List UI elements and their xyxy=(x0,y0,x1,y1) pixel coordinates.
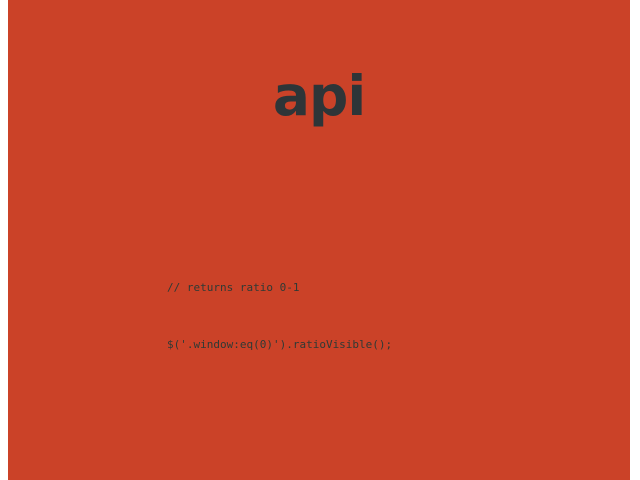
code-comment: // returns ratio 0-1 xyxy=(167,278,545,297)
slide-root: api // returns ratio 0-1 $('.window:eq(0… xyxy=(0,0,640,480)
slide-canvas: api // returns ratio 0-1 $('.window:eq(0… xyxy=(8,0,630,480)
code-statement: $('.window:eq(0)').ratioVisible(); xyxy=(167,335,545,354)
code-group: // returns ratio 0-1 $('.window:eq(0)').… xyxy=(167,240,545,392)
page-title: api xyxy=(8,69,630,124)
code-group: // returns boolean of whether or not is … xyxy=(167,468,545,480)
code-sample-block: // returns ratio 0-1 $('.window:eq(0)').… xyxy=(167,183,545,480)
